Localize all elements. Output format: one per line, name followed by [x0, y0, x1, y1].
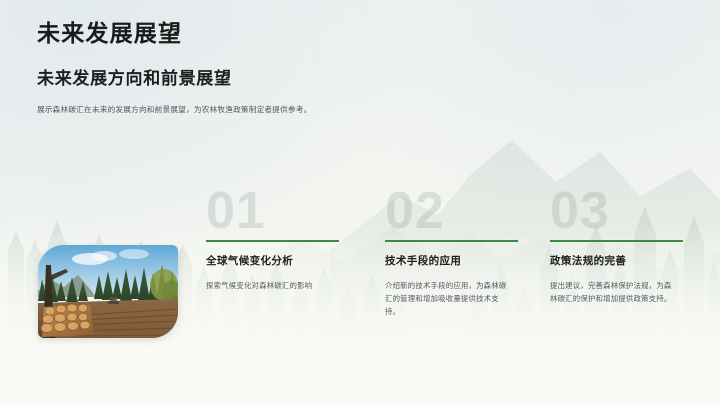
- slide-header: 未来发展展望 未来发展方向和前景展望 展示森林碳汇在未来的发展方向和前景展望，为…: [37, 20, 312, 116]
- forest-logging-image: [38, 245, 178, 338]
- column-body-1: 探索气候变化对森林碳汇的影响: [206, 280, 328, 293]
- column-number-2: 02: [385, 188, 525, 242]
- forest-logging-image-content: [38, 245, 178, 338]
- column-divider-3: [550, 240, 683, 242]
- column-title-1: 全球气候变化分析: [206, 255, 346, 269]
- page-title: 未来发展展望: [37, 20, 312, 48]
- column-body-3: 提出建议，完善森林保护法规，为森林碳汇的保护和增加提供政策支持。: [550, 280, 676, 306]
- column-title-2: 技术手段的应用: [385, 255, 525, 269]
- column-divider-1: [206, 240, 339, 242]
- column-divider-2: [385, 240, 518, 242]
- column-item-1: 01 全球气候变化分析 探索气候变化对森林碳汇的影响: [206, 188, 346, 293]
- column-item-2: 02 技术手段的应用 介绍新的技术手段的应用，为森林碳汇的管理和增加吸收量提供技…: [385, 188, 525, 319]
- page-lead-text: 展示森林碳汇在未来的发展方向和前景展望，为农林牧渔政策制定者提供参考。: [37, 104, 312, 116]
- column-number-3: 03: [550, 188, 690, 242]
- slide-canvas: 未来发展展望 未来发展方向和前景展望 展示森林碳汇在未来的发展方向和前景展望，为…: [0, 0, 720, 404]
- column-item-3: 03 政策法规的完善 提出建议，完善森林保护法规，为森林碳汇的保护和增加提供政策…: [550, 188, 690, 306]
- three-column-list: 01 全球气候变化分析 探索气候变化对森林碳汇的影响 02 技术手段的应用 介绍…: [206, 188, 686, 348]
- column-body-2: 介绍新的技术手段的应用，为森林碳汇的管理和增加吸收量提供技术支持。: [385, 280, 511, 319]
- page-subtitle: 未来发展方向和前景展望: [37, 68, 312, 89]
- column-number-1: 01: [206, 188, 346, 242]
- column-title-3: 政策法规的完善: [550, 255, 690, 269]
